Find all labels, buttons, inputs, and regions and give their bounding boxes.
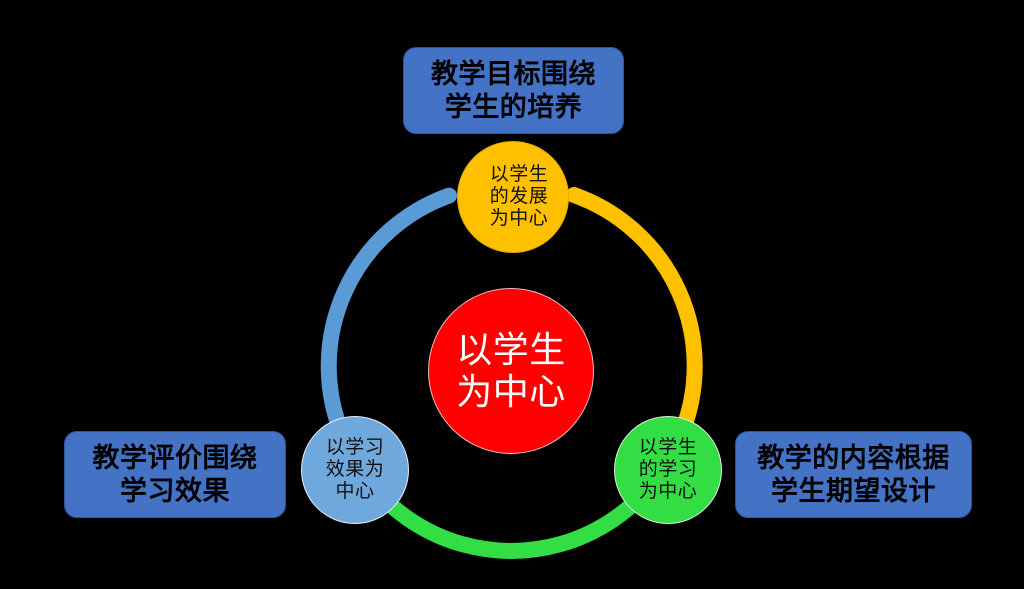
node-circle-student-learning[interactable]: 以学生 的学习 为中心 — [614, 416, 722, 524]
node-text-student-centered: 以学生 为中心 — [456, 329, 566, 414]
node-text-student-learning: 以学生 的学习 为中心 — [639, 437, 698, 503]
node-circle-student-centered[interactable]: 以学生 为中心 — [428, 288, 594, 454]
node-text-student-development: 以学生 的发展 为中心 — [490, 164, 549, 230]
label-text-teaching-content: 教学的内容根据 学生期望设计 — [757, 442, 950, 508]
label-text-teaching-goal: 教学目标围绕 学生的培养 — [431, 58, 596, 124]
label-box-teaching-goal[interactable]: 教学目标围绕 学生的培养 — [403, 47, 624, 134]
diagram-canvas: 教学目标围绕 学生的培养 教学评价围绕 学习效果 教学的内容根据 学生期望设计 … — [0, 0, 1024, 589]
node-text-learning-outcome: 以学习 效果为 中心 — [326, 437, 385, 503]
left-blue-arc — [329, 196, 449, 433]
node-circle-student-development[interactable]: 以学生 的发展 为中心 — [457, 141, 569, 253]
label-text-teaching-evaluation: 教学评价围绕 学习效果 — [93, 442, 258, 508]
label-box-teaching-content[interactable]: 教学的内容根据 学生期望设计 — [735, 431, 972, 518]
node-circle-learning-outcome[interactable]: 以学习 效果为 中心 — [301, 416, 409, 524]
label-box-teaching-evaluation[interactable]: 教学评价围绕 学习效果 — [64, 431, 286, 518]
right-yellow-arc — [574, 195, 695, 434]
